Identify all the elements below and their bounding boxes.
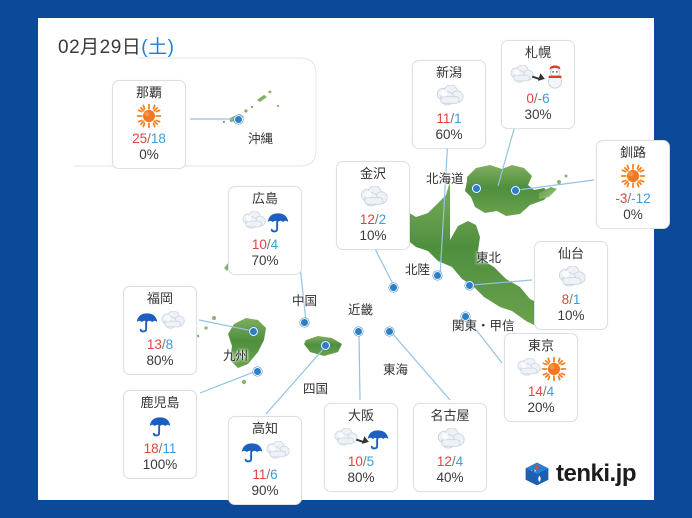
temperature-range: 11/1 (415, 111, 483, 127)
forecast-card-naha[interactable]: 那覇25/180% (112, 80, 186, 169)
node-chugoku[interactable] (300, 318, 309, 327)
precip-probability: 80% (126, 353, 194, 369)
temperature-range: 12/4 (416, 454, 484, 470)
low-temp: 2 (379, 212, 387, 227)
node-hokkaido-east[interactable] (511, 186, 520, 195)
weather-icons (115, 101, 183, 131)
okinawa-inset-border (74, 58, 316, 166)
cloud-icon (240, 211, 266, 233)
temperature-range: 12/2 (339, 212, 407, 228)
cloud-icon (264, 441, 290, 463)
logo-text: tenki.jp (556, 460, 636, 488)
weather-icons (599, 161, 667, 191)
weather-icons (537, 262, 605, 292)
precip-probability: 10% (339, 228, 407, 244)
high-temp: 25 (132, 131, 147, 146)
precip-probability: 40% (416, 470, 484, 486)
umbrella-icon (366, 427, 390, 451)
temperature-range: 14/4 (507, 384, 575, 400)
low-temp: 4 (271, 237, 279, 252)
precip-probability: 10% (537, 308, 605, 324)
forecast-card-tokyo[interactable]: 東京14/420% (504, 333, 578, 422)
weather-icons (231, 207, 299, 237)
weather-icons (126, 307, 194, 337)
city-name: 仙台 (537, 246, 605, 262)
node-shikoku[interactable] (321, 341, 330, 350)
high-temp: 12 (437, 454, 452, 469)
weather-icons (339, 182, 407, 212)
weather-icons (231, 437, 299, 467)
cloud-icon (332, 428, 358, 450)
forecast-card-fukuoka[interactable]: 福岡13/880% (123, 286, 197, 375)
cloud-icon (434, 85, 464, 107)
temperature-range: 25/18 (115, 131, 183, 147)
cloud-icon (435, 428, 465, 450)
city-name: 東京 (507, 338, 575, 354)
node-hokuriku[interactable] (389, 283, 398, 292)
city-name: 金沢 (339, 166, 407, 182)
node-tohoku[interactable] (465, 281, 474, 290)
forecast-card-kushiro[interactable]: 釧路-3/-120% (596, 140, 670, 229)
low-temp: 4 (547, 384, 555, 399)
high-temp: 11 (436, 111, 450, 126)
weather-icons (416, 424, 484, 454)
forecast-card-niigata[interactable]: 新潟11/160% (412, 60, 486, 149)
forecast-card-nagoya[interactable]: 名古屋12/440% (413, 403, 487, 492)
cloud-icon (508, 65, 534, 87)
forecast-card-kochi[interactable]: 高知11/690% (228, 416, 302, 505)
city-name: 札幌 (504, 45, 572, 61)
forecast-card-osaka[interactable]: 大阪10/580% (324, 403, 398, 492)
high-temp: 12 (360, 212, 375, 227)
high-temp: 18 (144, 441, 159, 456)
low-temp: 6 (270, 467, 278, 482)
city-name: 那覇 (115, 85, 183, 101)
screenshot-root: 沖縄 北海道 東北 北陸 関東・甲信 中国 近畿 東海 九州 四国 (0, 0, 692, 518)
temperature-range: 8/1 (537, 292, 605, 308)
high-temp: 14 (528, 384, 543, 399)
tenki-logo[interactable]: tenki.jp (524, 460, 636, 488)
temperature-range: -3/-12 (599, 191, 667, 207)
high-temp: 10 (252, 237, 267, 252)
node-tokai[interactable] (385, 327, 394, 336)
high-temp: 0 (526, 91, 534, 106)
precip-probability: 20% (507, 400, 575, 416)
region-label-tohoku: 東北 (476, 247, 501, 266)
node-kinki[interactable] (354, 327, 363, 336)
day-of-week-text: (土) (141, 37, 174, 58)
high-temp: 10 (348, 454, 363, 469)
date-text: 02月29日 (58, 37, 141, 58)
node-niigata[interactable] (433, 271, 442, 280)
high-temp: 11 (252, 467, 266, 482)
region-label-kinki: 近畿 (348, 299, 373, 318)
temperature-range: 13/8 (126, 337, 194, 353)
forecast-card-kagoshima[interactable]: 鹿児島18/11100% (123, 390, 197, 479)
cloud-icon (556, 266, 586, 288)
forecast-card-sapporo[interactable]: 札幌0/-630% (501, 40, 575, 129)
sun-icon (620, 163, 646, 189)
node-kyushu-south[interactable] (253, 367, 262, 376)
high-temp: 8 (562, 292, 570, 307)
precip-probability: 100% (126, 457, 194, 473)
okinawa-islands (223, 91, 279, 124)
high-temp: -3 (615, 191, 627, 206)
low-temp: 18 (151, 131, 166, 146)
region-label-hokkaido: 北海道 (426, 168, 464, 187)
precip-probability: 70% (231, 253, 299, 269)
low-temp: 4 (456, 454, 464, 469)
region-label-chugoku: 中国 (292, 290, 317, 309)
low-temp: 1 (573, 292, 581, 307)
low-temp: 5 (367, 454, 375, 469)
low-temp: 1 (454, 111, 462, 126)
cloud-icon (515, 358, 541, 380)
city-name: 高知 (231, 421, 299, 437)
region-label-tokai: 東海 (383, 359, 408, 378)
city-name: 新潟 (415, 65, 483, 81)
city-name: 名古屋 (416, 408, 484, 424)
weather-icons (327, 424, 395, 454)
weather-icons (415, 81, 483, 111)
forecast-card-sendai[interactable]: 仙台8/110% (534, 241, 608, 330)
high-temp: 13 (147, 337, 162, 352)
cloud-icon (358, 186, 388, 208)
precip-probability: 30% (504, 107, 572, 123)
low-temp: -6 (538, 91, 550, 106)
weather-icons (126, 411, 194, 441)
node-kanto[interactable] (461, 312, 470, 321)
cloud-icon (159, 311, 185, 333)
forecast-card-hiroshima[interactable]: 広島10/470% (228, 186, 302, 275)
precip-probability: 60% (415, 127, 483, 143)
weather-icons (507, 354, 575, 384)
sun-icon (541, 356, 567, 382)
page-title: 02月29日(土) (58, 32, 174, 59)
low-temp: 11 (162, 441, 176, 456)
region-label-kyushu: 九州 (223, 345, 248, 364)
weather-icons (504, 61, 572, 91)
city-name: 広島 (231, 191, 299, 207)
temperature-range: 11/6 (231, 467, 299, 483)
city-name: 大阪 (327, 408, 395, 424)
node-okinawa[interactable] (234, 115, 243, 124)
city-name: 釧路 (599, 145, 667, 161)
temperature-range: 10/4 (231, 237, 299, 253)
node-hokkaido-west[interactable] (472, 184, 481, 193)
temperature-range: 10/5 (327, 454, 395, 470)
sun-icon (136, 103, 162, 129)
precip-probability: 0% (115, 147, 183, 163)
precip-probability: 90% (231, 483, 299, 499)
temperature-range: 18/11 (126, 441, 194, 457)
snowman-icon (542, 64, 568, 88)
city-name: 鹿児島 (126, 395, 194, 411)
temperature-range: 0/-6 (504, 91, 572, 107)
node-kyushu[interactable] (249, 327, 258, 336)
region-label-hokuriku: 北陸 (405, 259, 430, 278)
forecast-card-kanazawa[interactable]: 金沢12/210% (336, 161, 410, 250)
content-card: 沖縄 北海道 東北 北陸 関東・甲信 中国 近畿 東海 九州 四国 (38, 18, 654, 500)
precip-probability: 0% (599, 207, 667, 223)
umbrella-icon (135, 310, 159, 334)
umbrella-icon (240, 440, 264, 464)
precip-probability: 80% (327, 470, 395, 486)
umbrella-icon (266, 210, 290, 234)
cube-logo-icon (524, 461, 550, 487)
low-temp: -12 (631, 191, 651, 206)
umbrella-icon (148, 414, 172, 438)
region-label-okinawa: 沖縄 (248, 128, 273, 147)
low-temp: 8 (166, 337, 174, 352)
region-label-shikoku: 四国 (303, 378, 328, 397)
city-name: 福岡 (126, 291, 194, 307)
